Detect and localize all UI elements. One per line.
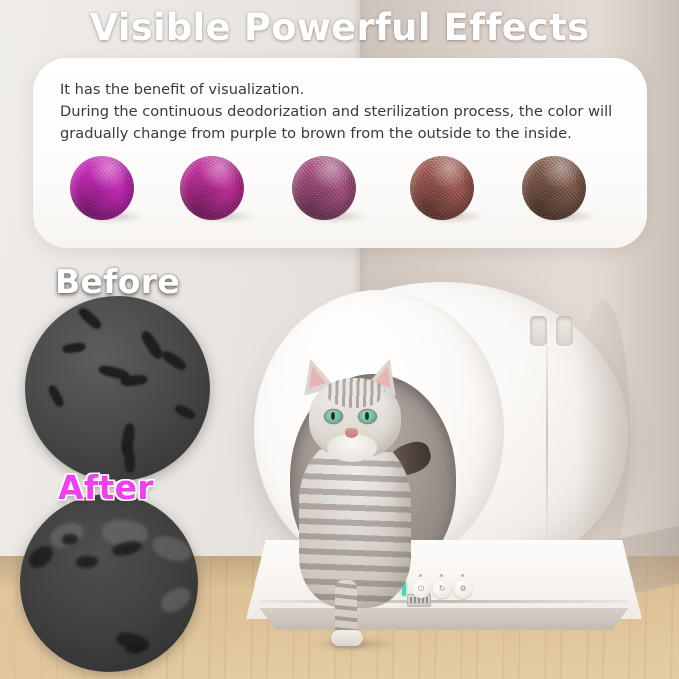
info-line-3: gradually change from purple to brown fr… [60,123,626,145]
bacteria-fragment [157,584,195,616]
info-card-text: It has the benefit of visualization. Dur… [60,79,626,145]
after-label: After [58,468,154,507]
bacteria-fragment [62,534,78,545]
ball-stage-4 [401,154,483,248]
bacteria-fragment [126,644,144,654]
cat-paw [331,630,363,646]
color-progression-row [33,154,647,248]
button-led-2 [440,574,443,577]
bacteria-rod [121,375,148,387]
cycle-icon: ↻ [439,585,446,593]
bacteria-fragment [76,556,98,568]
info-line-2: During the continuous deodorization and … [60,101,626,123]
microscope-image-after [20,494,198,672]
bacteria-fragment [25,542,57,571]
litter-ball-icon [180,156,244,220]
litter-box-drum-seam [546,322,548,548]
cycle-button[interactable]: ↻ [433,580,451,598]
bacteria-rod [47,384,64,407]
bacteria-rod [174,404,195,420]
page-title: Visible Powerful Effects [0,6,679,49]
litter-ball-icon [410,156,474,220]
litter-ball-icon [522,156,586,220]
ball-stage-3 [283,154,365,248]
cat-nose [345,428,358,438]
handle-slot-right[interactable] [556,316,573,346]
cat-photo [283,352,427,642]
info-line-1: It has the benefit of visualization. [60,79,626,101]
litter-ball-icon [70,156,134,220]
cat-eye-right [359,410,376,423]
settings-button[interactable]: ⚙ [454,580,472,598]
ball-stage-2 [171,154,253,248]
ball-stage-1 [61,154,143,248]
lid-handle-slots[interactable] [526,316,606,352]
gear-icon: ⚙ [459,585,466,593]
ball-stage-5 [513,154,595,248]
bacteria-rod [63,343,86,354]
before-label: Before [55,262,180,301]
product-marketing-image: Visible Powerful Effects It has the bene… [0,0,679,679]
litter-ball-icon [292,156,356,220]
microscope-image-before [25,296,210,481]
cat-muzzle [327,434,377,462]
button-led-3 [461,574,464,577]
bacteria-rod [77,306,102,330]
info-card: It has the benefit of visualization. Dur… [33,58,647,248]
cat-eye-left [325,410,342,423]
bacteria-rod [161,349,188,371]
bacteria-rod [140,330,164,361]
handle-slot-left[interactable] [530,316,547,346]
